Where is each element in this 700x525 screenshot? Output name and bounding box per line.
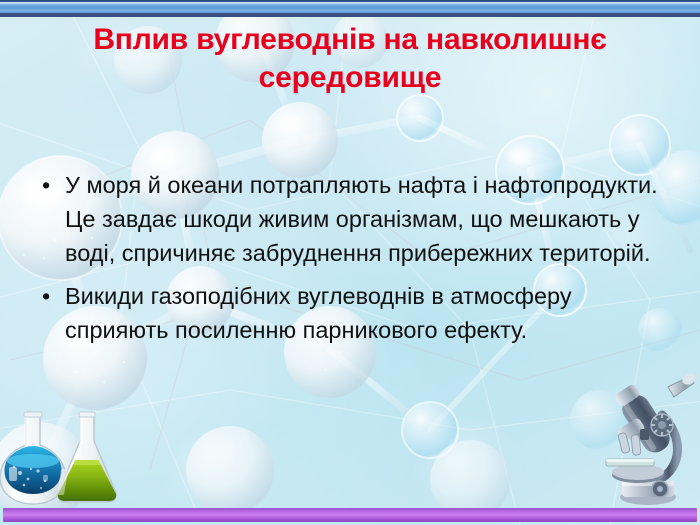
top-banner-highlight: [0, 2, 700, 5]
slide-body: • У моря й океани потрапляють нафта і на…: [34, 168, 670, 356]
top-decorative-banner: [0, 0, 700, 17]
conical-flask: [57, 412, 116, 502]
bullet-item: • У моря й океани потрапляють нафта і на…: [34, 168, 670, 270]
bullet-marker: •: [42, 168, 50, 202]
laboratory-flasks-illustration: [0, 409, 140, 507]
round-bottom-flask: [0, 412, 66, 504]
bullet-text: Викиди газоподібних вуглеводнів в атмосф…: [65, 283, 572, 343]
focus-knob: [651, 414, 673, 436]
slide: Вплив вуглеводнів на навколишнє середови…: [0, 0, 700, 525]
bullet-item: • Викиди газоподібних вуглеводнів в атмо…: [34, 279, 670, 347]
microscope-base: [620, 481, 676, 505]
microscope-illustration: [600, 371, 696, 507]
bullet-marker: •: [42, 279, 50, 313]
microscope-eyepiece: [668, 371, 696, 397]
bullet-text: У моря й океани потрапляють нафта і нафт…: [65, 172, 658, 266]
slide-title: Вплив вуглеводнів на навколишнє середови…: [28, 21, 672, 97]
bottom-banner-inner: [3, 508, 697, 522]
bottom-decorative-banner: [0, 505, 700, 525]
microscope-stage: [606, 459, 664, 483]
